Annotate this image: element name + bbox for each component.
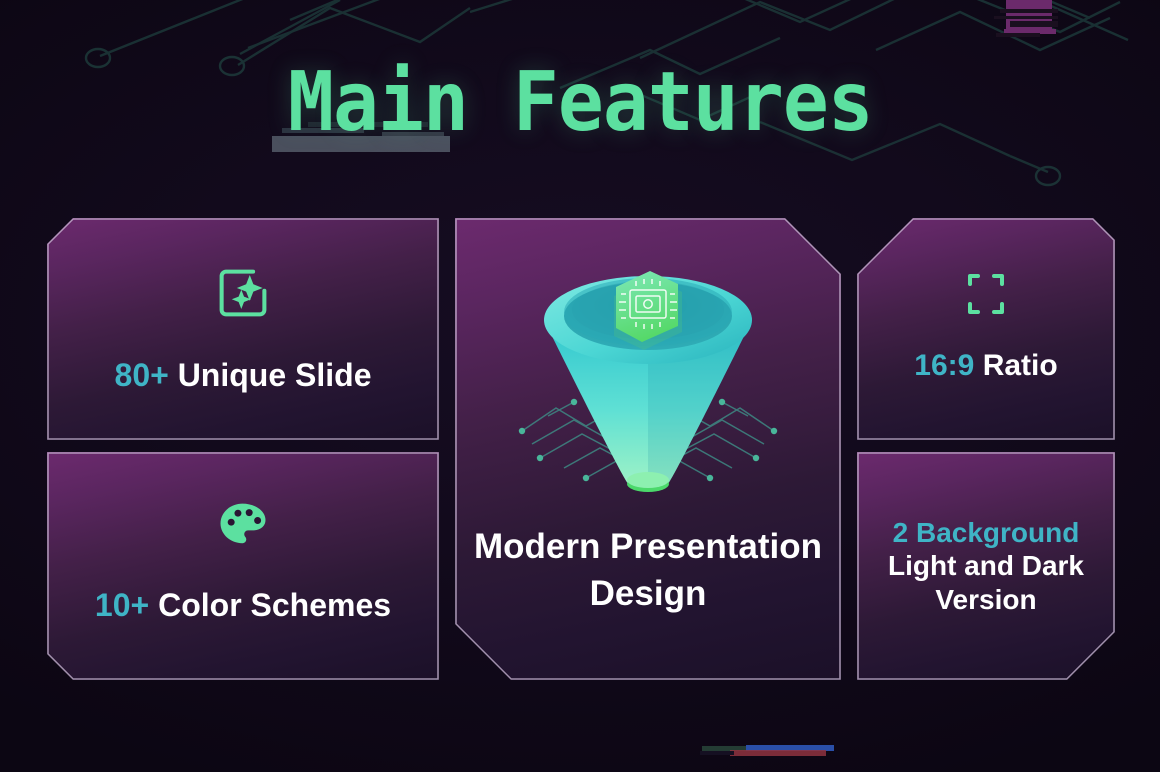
feature-card-backgrounds[interactable]: 2 Background Light and Dark Version (857, 452, 1115, 680)
card-stat-unique-slide: 80+ (115, 357, 169, 393)
card-stat-ratio: 16:9 (914, 349, 974, 382)
fullscreen-corners-icon (962, 270, 1010, 318)
image-sparkle-icon (216, 266, 270, 320)
feature-card-color-schemes[interactable]: 10+ Color Schemes (47, 452, 439, 680)
feature-card-modern-design[interactable]: Modern Presentation Design (455, 218, 841, 680)
palette-icon (216, 498, 270, 552)
card-text-unique-slide: Unique Slide (178, 357, 372, 393)
isometric-funnel-chip-illustration (478, 236, 818, 506)
feature-card-unique-slide[interactable]: 80+ Unique Slide (47, 218, 439, 440)
card-text-backgrounds: Light and Dark Version (871, 549, 1101, 616)
card-text-color-schemes: Color Schemes (158, 587, 391, 623)
card-text-ratio: Ratio (983, 349, 1058, 382)
card-label-color-schemes: 10+ Color Schemes (95, 588, 391, 623)
page-title: Main Features (288, 62, 873, 144)
feature-card-ratio[interactable]: 16:9 Ratio (857, 218, 1115, 440)
slide-canvas: Main Features 80+ Unique Slide (0, 0, 1160, 772)
page-title-wrapper: Main Features (0, 62, 1160, 144)
card-label-backgrounds: 2 Background Light and Dark Version (857, 516, 1115, 617)
card-label-unique-slide: 80+ Unique Slide (115, 358, 372, 393)
card-label-ratio: 16:9 Ratio (914, 350, 1057, 382)
card-stat-color-schemes: 10+ (95, 587, 149, 623)
card-stat-backgrounds: 2 Background (871, 516, 1101, 550)
card-label-modern-design: Modern Presentation Design (455, 524, 841, 617)
